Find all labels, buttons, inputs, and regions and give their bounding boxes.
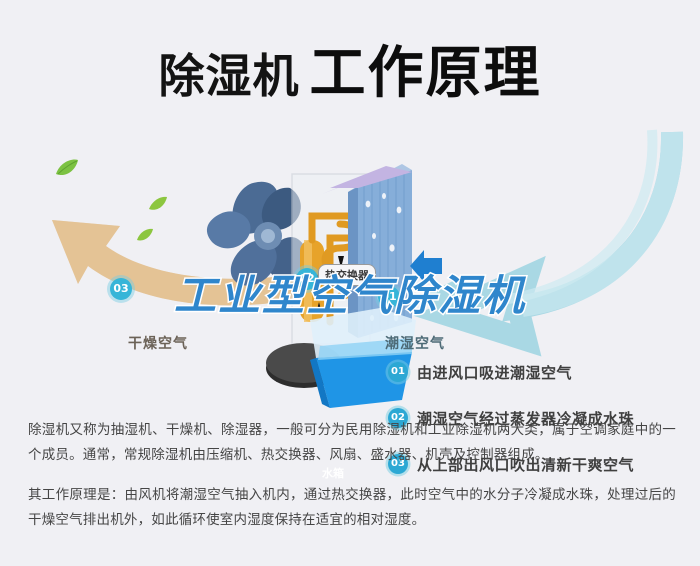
dry-air-label: 干燥空气 xyxy=(128,333,188,353)
list-item: 01 由进风口吸进潮湿空气 xyxy=(388,361,688,383)
leaf-icon xyxy=(136,228,154,244)
inlet-arrow-icon xyxy=(410,250,442,282)
page-title-primary: 除湿机 xyxy=(159,49,300,103)
humid-air-label: 潮湿空气 xyxy=(385,333,445,353)
heat-exchanger-callout: 热交换器 xyxy=(318,264,376,286)
step-text-01: 由进风口吸进潮湿空气 xyxy=(417,362,572,383)
page-root: 除湿机工作原理 xyxy=(0,0,700,566)
diagram-badge-03: 03 xyxy=(110,278,132,300)
body-paragraph-2: 其工作原理是：由风机将潮湿空气抽入机内，通过热交换器，此时空气中的水分子冷凝成水… xyxy=(28,483,676,533)
leaf-icon xyxy=(54,158,80,180)
step-badge-01: 01 xyxy=(388,362,408,382)
body-paragraph-1: 除湿机又称为抽湿机、干燥机、除湿器，一般可分为民用除湿机和工业除湿机两大类，属于… xyxy=(28,418,676,468)
page-title-secondary: 工作原理 xyxy=(310,41,542,106)
diagram-badge-01: 01 xyxy=(378,286,400,308)
dehumidifier-diagram: 03 02 01 干燥空气 潮湿空气 水箱 热交换器 01 由进风口吸进潮湿空气… xyxy=(0,118,700,408)
page-title: 除湿机工作原理 xyxy=(0,28,700,109)
leaf-icon xyxy=(148,196,168,214)
diagram-badge-02: 02 xyxy=(296,268,318,290)
